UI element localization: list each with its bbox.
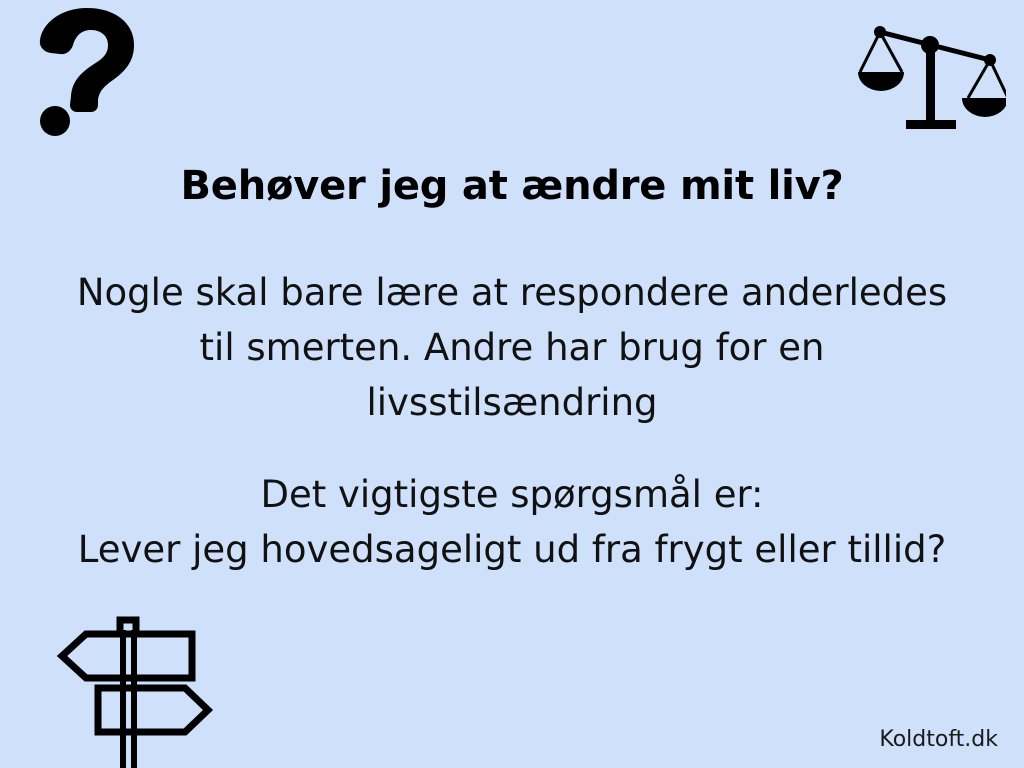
footer-credit: Koldtoft.dk — [879, 727, 998, 752]
slide-heading: Behøver jeg at ændre mit liv? — [0, 163, 1024, 209]
body-copy: Nogle skal bare lære at respondere ander… — [0, 266, 1024, 430]
body-copy-line: Nogle skal bare lære at respondere ander… — [0, 266, 1024, 321]
body-copy-line: til smerten. Andre har brug for en — [0, 321, 1024, 376]
slide-canvas: Behøver jeg at ændre mit liv? Nogle skal… — [0, 0, 1024, 768]
body-copy-line: livsstilsændring — [0, 376, 1024, 431]
key-question-block: Det vigtigste spørgsmål er: Lever jeg ho… — [0, 468, 1024, 578]
question-mark-icon — [30, 6, 140, 136]
signpost-icon — [40, 612, 230, 768]
key-question-text: Lever jeg hovedsageligt ud fra frygt ell… — [0, 523, 1024, 578]
balance-scales-icon — [858, 16, 1006, 134]
key-question-lead: Det vigtigste spørgsmål er: — [0, 468, 1024, 523]
